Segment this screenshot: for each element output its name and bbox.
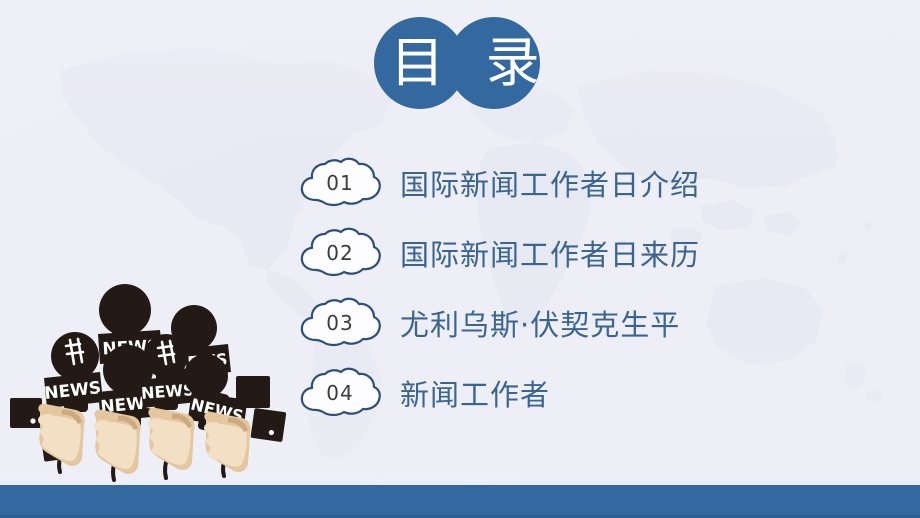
list-item-number: 04 bbox=[296, 366, 384, 420]
cloud-badge-icon: 04 bbox=[296, 366, 384, 420]
footer-bar bbox=[0, 485, 920, 518]
list-item-number: 01 bbox=[296, 156, 384, 210]
list-item-label: 新闻工作者 bbox=[400, 372, 550, 414]
slide-canvas: 目 录 01 国际新闻工作者日介绍 02 国际新闻工作者日来历 bbox=[0, 0, 920, 518]
svg-text:NEWS: NEWS bbox=[43, 378, 102, 404]
list-item-number: 03 bbox=[296, 296, 384, 350]
cloud-badge-icon: 01 bbox=[296, 156, 384, 210]
svg-text:NEWS: NEWS bbox=[100, 393, 158, 418]
list-item[interactable]: 03 尤利乌斯·伏契克生平 bbox=[296, 288, 856, 358]
cloud-badge-icon: 02 bbox=[296, 226, 384, 280]
svg-text:NEWS: NEWS bbox=[173, 350, 228, 374]
svg-text:NEWS: NEWS bbox=[102, 337, 160, 360]
table-of-contents: 01 国际新闻工作者日介绍 02 国际新闻工作者日来历 03 尤利乌斯·伏契克生… bbox=[296, 148, 856, 428]
svg-text:NEWS: NEWS bbox=[189, 395, 246, 426]
list-item-label: 尤利乌斯·伏契克生平 bbox=[400, 302, 680, 344]
list-item[interactable]: 04 新闻工作者 bbox=[296, 358, 856, 428]
list-item-label: 国际新闻工作者日介绍 bbox=[400, 162, 700, 204]
list-item-number: 02 bbox=[296, 226, 384, 280]
page-title: 目 录 bbox=[370, 8, 560, 108]
list-item[interactable]: 02 国际新闻工作者日来历 bbox=[296, 218, 856, 288]
cloud-badge-icon: 03 bbox=[296, 296, 384, 350]
list-item-label: 国际新闻工作者日来历 bbox=[400, 232, 700, 274]
title-text: 目 录 bbox=[370, 17, 560, 109]
news-reporters-illustration: .mic { fill: #231a16; } .handL { fill: #… bbox=[0, 268, 300, 488]
list-item[interactable]: 01 国际新闻工作者日介绍 bbox=[296, 148, 856, 218]
svg-text:NEWS: NEWS bbox=[140, 380, 195, 403]
